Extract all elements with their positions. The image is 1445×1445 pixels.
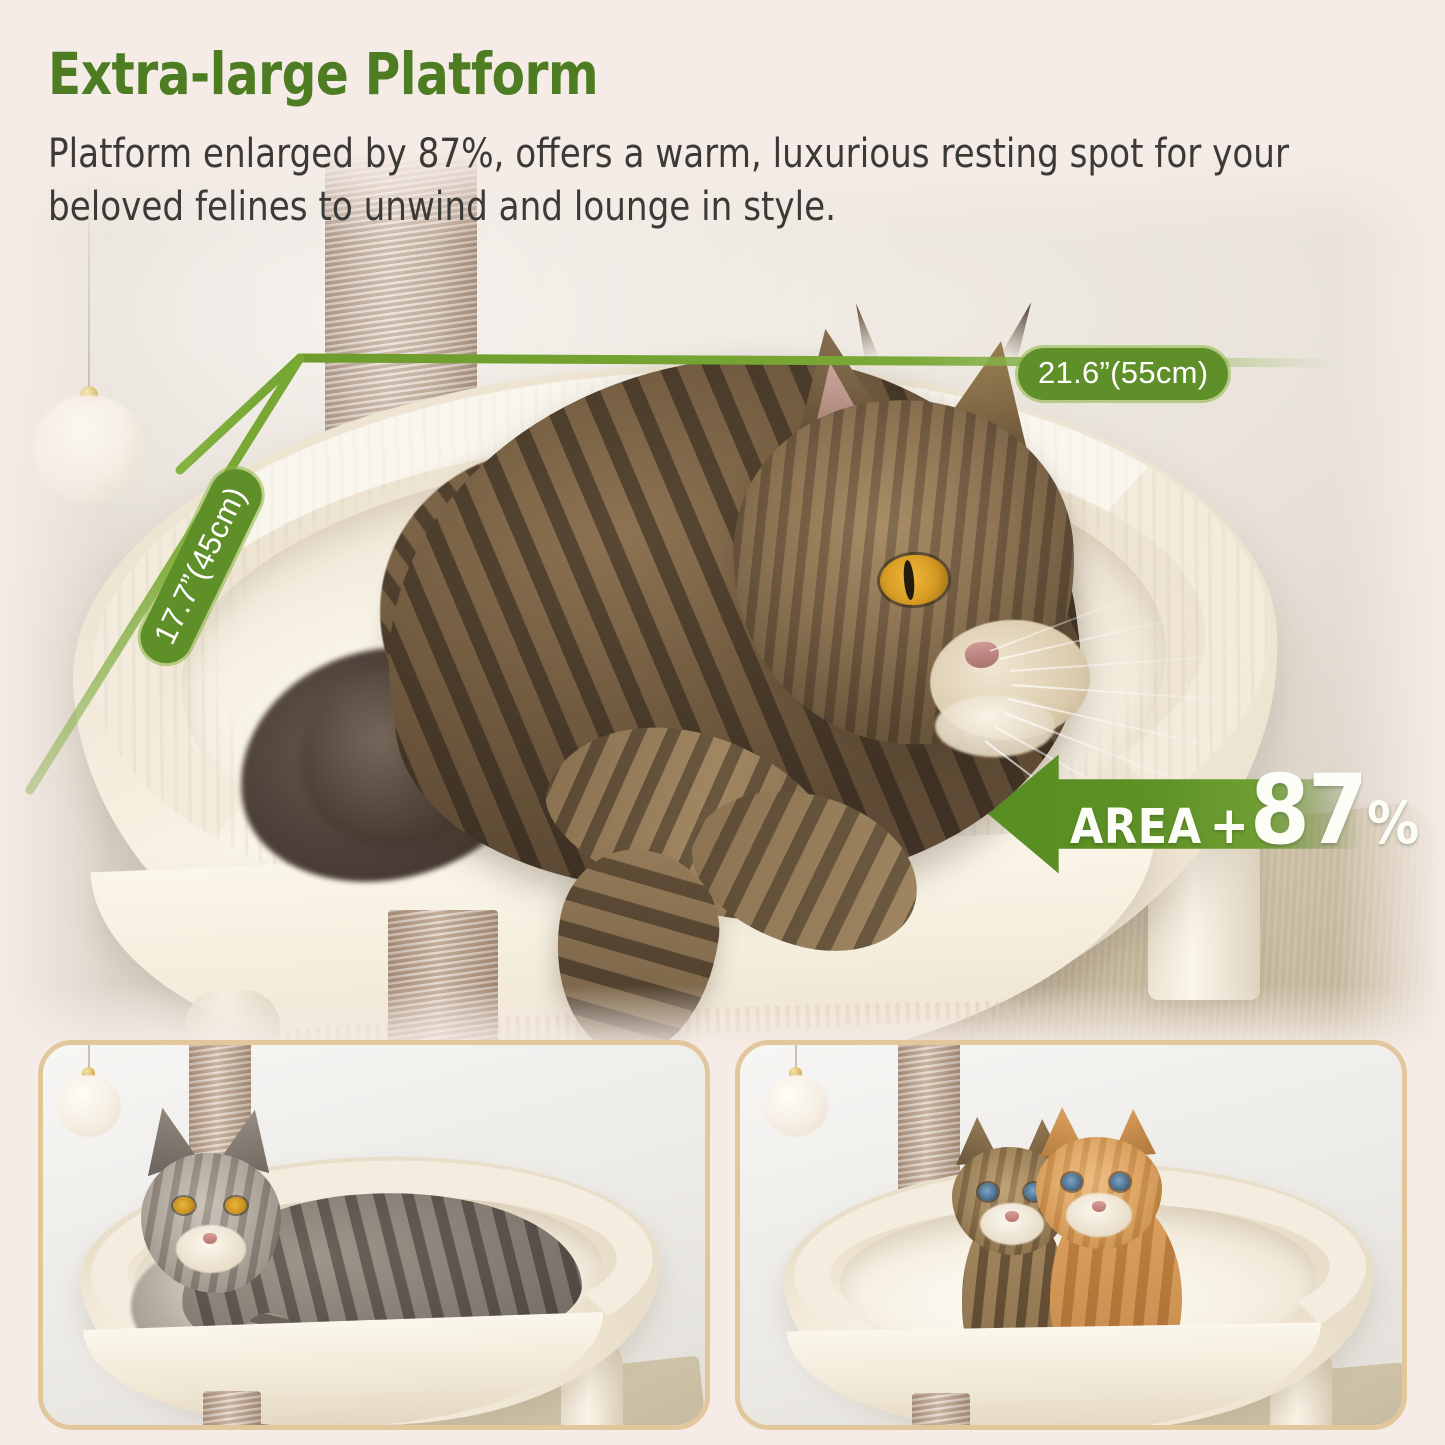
kitten-ginger-eye-left	[1062, 1173, 1082, 1191]
thumbnail-adult-cat-image	[43, 1045, 705, 1425]
kitten-ginger-nose	[1092, 1201, 1106, 1212]
thumbnail-row	[0, 1040, 1445, 1445]
percent-sign: %	[1367, 789, 1419, 857]
pom-pom-ball	[764, 1075, 828, 1137]
sisal-post-lower	[912, 1393, 970, 1425]
cat-nose	[203, 1233, 217, 1244]
thumbnail-two-kittens[interactable]	[735, 1040, 1407, 1430]
cat-eye-left	[173, 1197, 195, 1214]
page-subtitle: Platform enlarged by 87%, offers a warm,…	[48, 128, 1302, 234]
area-badge-text: AREA + 87 %	[1070, 771, 1419, 857]
kitten-ginger-muzzle	[1066, 1193, 1132, 1237]
area-percent-value: 87	[1250, 771, 1366, 850]
hero-product-photo	[0, 150, 1445, 1055]
area-increase-badge: AREA + 87 %	[988, 752, 1360, 876]
pom-pom-ball	[57, 1075, 121, 1137]
sisal-post-lower	[203, 1391, 261, 1425]
product-feature-banner: Extra-large Platform Platform enlarged b…	[0, 0, 1445, 1445]
kitten-ginger-eye-right	[1110, 1173, 1130, 1191]
area-label: AREA	[1070, 799, 1202, 855]
thumbnail-adult-cat[interactable]	[38, 1040, 710, 1430]
dimension-label-width: 21.6”(55cm)	[1018, 348, 1228, 400]
kitten-tabby-muzzle	[980, 1203, 1044, 1245]
page-title: Extra-large Platform	[48, 40, 598, 108]
thumbnail-two-kittens-image	[740, 1045, 1402, 1425]
cat-eye-right	[225, 1197, 247, 1214]
pom-pom-ball	[33, 395, 145, 503]
plus-sign: +	[1210, 796, 1249, 856]
kitten-tabby-nose	[1005, 1211, 1019, 1222]
kitten-tabby-eye-left	[978, 1183, 998, 1201]
sisal-post-lower	[388, 910, 498, 1055]
